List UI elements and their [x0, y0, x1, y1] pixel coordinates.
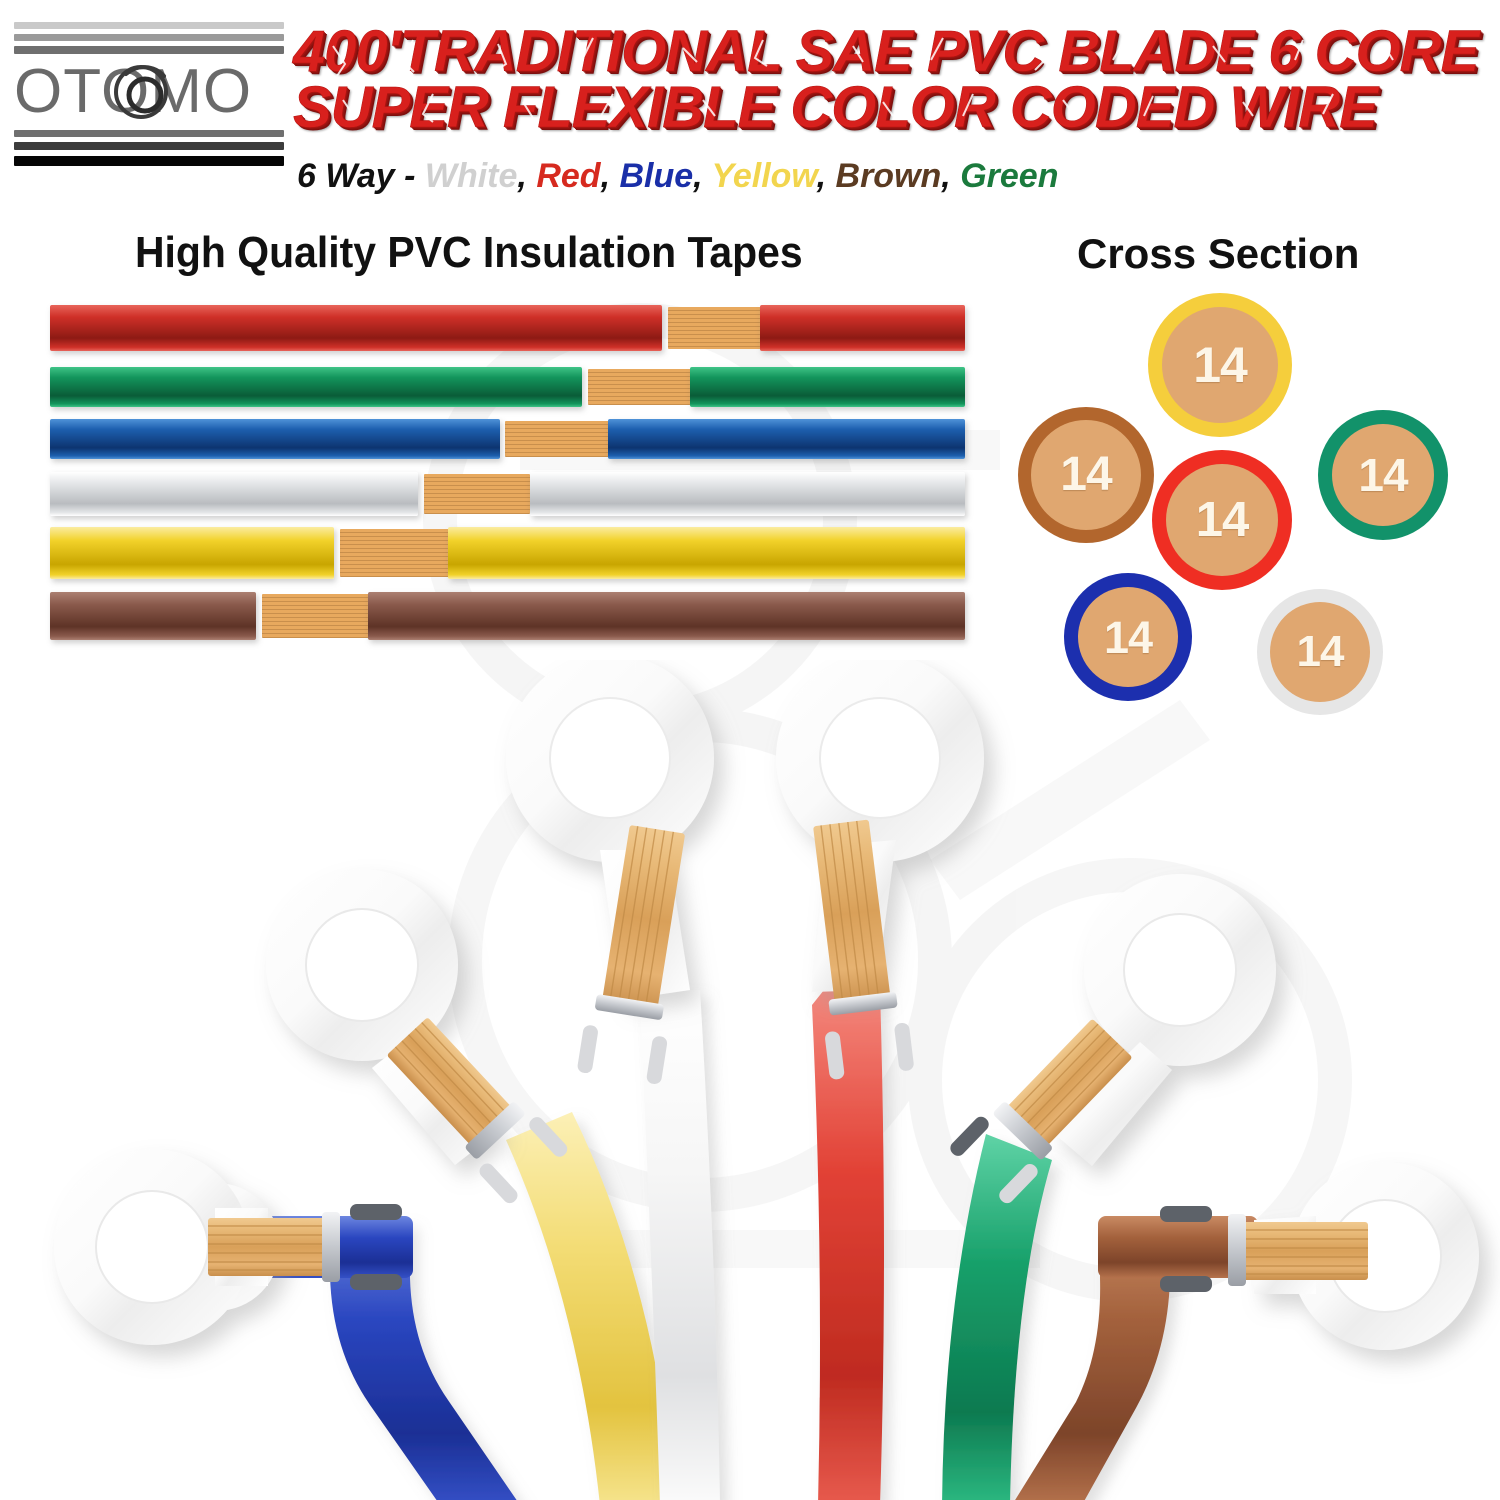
copper-strands-blue [505, 421, 609, 457]
subtitle-sep-4: , [941, 157, 960, 195]
subtitle-sep-0: , [517, 157, 536, 195]
cross-section-label-blue: 14 [1104, 615, 1152, 660]
tape-wire-white [50, 472, 965, 516]
otomo-logo: OTOMO [14, 18, 284, 168]
subtitle-color-brown: Brown [836, 157, 942, 195]
subtitle-sep-3: , [817, 157, 836, 195]
cross-section-yellow: 14 [1148, 293, 1292, 437]
cross-section-label-green: 14 [1358, 452, 1407, 498]
tape-wire-yellow [50, 527, 965, 579]
tape-wire-blue [50, 419, 965, 459]
infographic-canvas: OTOMO 400'TRADITIONAL SAE PVC BLADE 6 CO… [0, 0, 1500, 1500]
tape-segment-left-red [50, 305, 662, 351]
logo-bar-top-3 [14, 46, 284, 54]
cross-section-heading: Cross Section [1077, 230, 1359, 278]
subtitle-sep-1: , [601, 157, 620, 195]
cross-section-blue: 14 [1064, 573, 1192, 701]
cross-section-core-red: 14 [1166, 464, 1278, 576]
cross-section-label-red: 14 [1196, 496, 1249, 545]
copper-strands-yellow [340, 529, 450, 577]
logo-bar-bottom-1 [14, 130, 284, 137]
cross-section-white: 14 [1257, 589, 1383, 715]
cross-section-core-yellow: 14 [1162, 307, 1278, 423]
subtitle-color-white: White [425, 157, 518, 195]
logo-bar-top-1 [14, 22, 284, 29]
tape-wire-red [50, 305, 965, 351]
tape-segment-left-white [50, 472, 418, 516]
cross-section-core-blue: 14 [1078, 587, 1178, 687]
tape-segment-right-green [690, 367, 965, 407]
cross-section-core-green: 14 [1332, 424, 1434, 526]
product-title: 400'TRADITIONAL SAE PVC BLADE 6 CORE SUP… [293, 26, 1483, 134]
cross-section-red: 14 [1152, 450, 1292, 590]
product-title-line2: SUPER FLEXIBLE COLOR CODED WIRE [293, 82, 1483, 134]
subtitle-color-blue: Blue [619, 157, 693, 195]
logo-bar-bottom-2 [14, 142, 284, 150]
subtitle-prefix: 6 Way - [297, 157, 425, 195]
terminal-brown [1012, 1162, 1479, 1500]
tape-segment-right-yellow [448, 527, 965, 579]
tape-wire-brown [50, 592, 965, 640]
copper-strands-red [668, 307, 762, 349]
cross-section-diagram: 141414141414 [1000, 280, 1500, 730]
subtitle-sep-2: , [693, 157, 711, 195]
logo-wordmark: OTOMO [14, 56, 284, 128]
cross-section-label-brown: 14 [1060, 451, 1111, 499]
cross-section-core-white: 14 [1270, 602, 1370, 702]
subtitle-color-green: Green [960, 157, 1058, 195]
ring-terminal-group [0, 660, 1500, 1500]
tape-segment-right-brown [368, 592, 965, 640]
copper-strands-green [588, 369, 692, 405]
tape-segment-left-yellow [50, 527, 334, 579]
color-list-subtitle: 6 Way - White, Red, Blue, Yellow, Brown,… [297, 157, 1058, 196]
cross-section-brown: 14 [1018, 407, 1154, 543]
tape-wire-green [50, 367, 965, 407]
subtitle-color-red: Red [536, 157, 600, 195]
tape-segment-right-blue [608, 419, 965, 459]
logo-bar-bottom-3 [14, 156, 284, 166]
subtitle-color-yellow: Yellow [711, 157, 816, 195]
tape-segment-left-blue [50, 419, 500, 459]
cross-section-core-brown: 14 [1031, 420, 1141, 530]
cross-section-green: 14 [1318, 410, 1448, 540]
cross-section-label-white: 14 [1297, 630, 1344, 674]
tape-segment-left-brown [50, 592, 256, 640]
copper-strands-white [424, 474, 530, 514]
logo-bar-top-2 [14, 34, 284, 41]
cross-section-label-yellow: 14 [1193, 340, 1247, 390]
product-title-line1: 400'TRADITIONAL SAE PVC BLADE 6 CORE [293, 26, 1483, 78]
tape-segment-right-white [530, 472, 965, 516]
terminal-blue [54, 1149, 520, 1500]
tape-segment-left-green [50, 367, 582, 407]
tapes-heading: High Quality PVC Insulation Tapes [135, 228, 803, 278]
tape-segment-right-red [760, 305, 965, 351]
copper-strands-brown [262, 594, 370, 638]
